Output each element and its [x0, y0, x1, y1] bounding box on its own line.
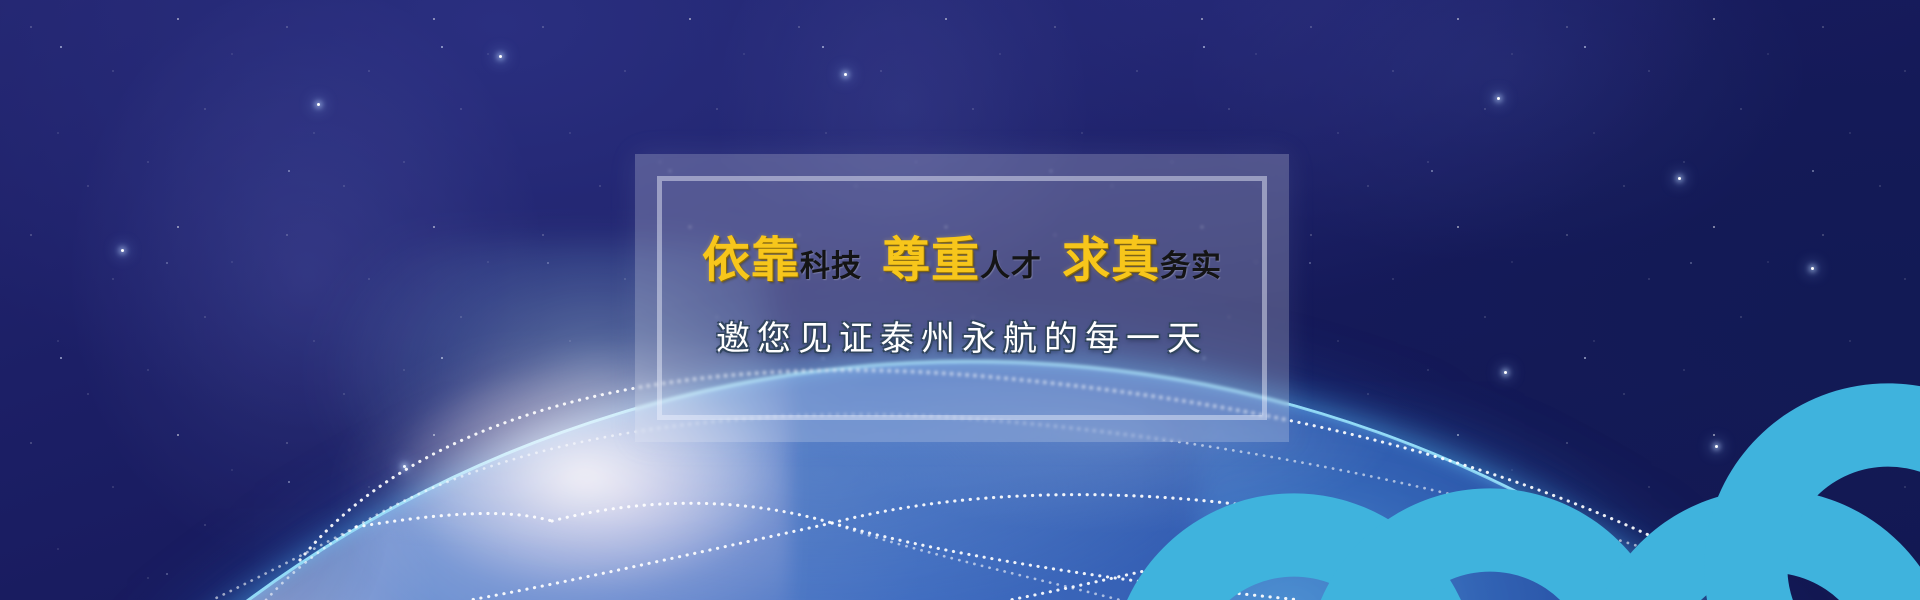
pin-southeast[interactable]	[1399, 540, 1920, 600]
headline-segment-2: 尊重	[882, 237, 980, 285]
panel-content: 依靠科技尊重人才求真务实 邀您见证泰州永航的每一天	[635, 154, 1289, 442]
headline-segment-3: 人才	[980, 252, 1042, 282]
headline-segment-1: 科技	[800, 252, 862, 282]
headline-segment-4: 求真	[1062, 237, 1160, 285]
headline-segment-5: 务实	[1160, 252, 1222, 282]
subtitle-text: 邀您见证泰州永航的每一天	[716, 311, 1208, 360]
headline-slogan: 依靠科技尊重人才求真务实	[702, 237, 1222, 285]
headline-segment-0: 依靠	[702, 237, 800, 285]
text-panel: 依靠科技尊重人才求真务实 邀您见证泰州永航的每一天	[635, 154, 1289, 442]
hero-banner: 依靠科技尊重人才求真务实 邀您见证泰州永航的每一天	[0, 0, 1920, 600]
